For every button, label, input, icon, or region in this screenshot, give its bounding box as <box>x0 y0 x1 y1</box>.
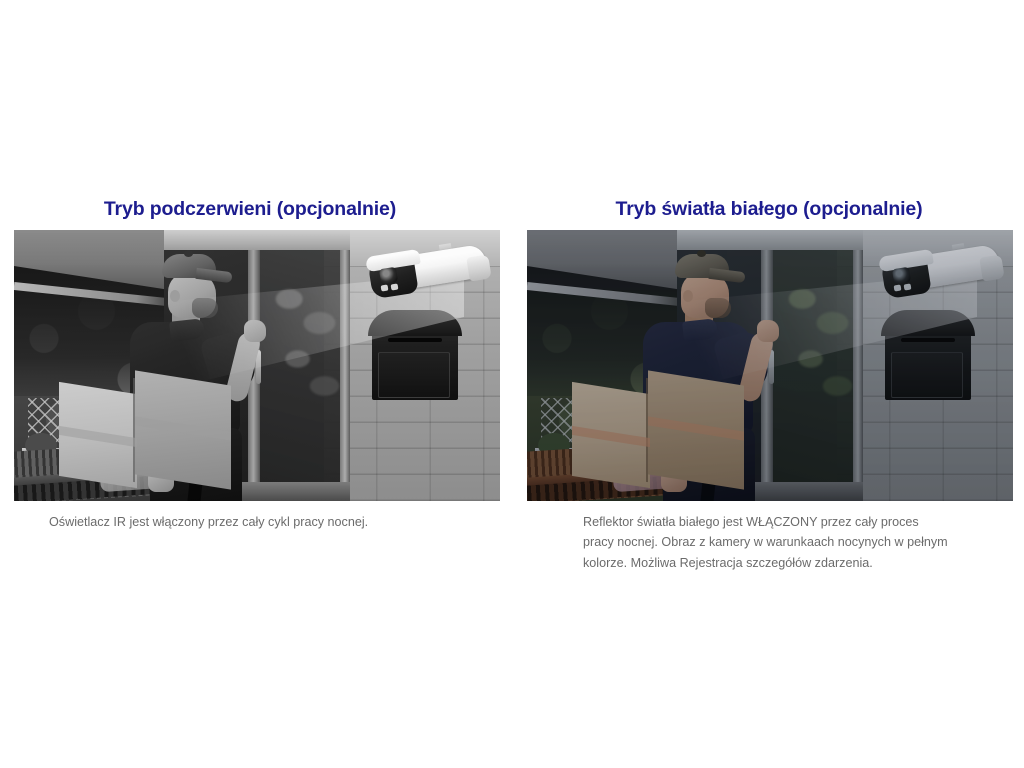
person-beard <box>192 298 218 318</box>
camera-rear-cap <box>466 254 491 281</box>
cardboard-box <box>572 380 750 488</box>
camera-led-right-icon <box>391 283 399 290</box>
camera-rear-cap <box>979 254 1004 281</box>
box-corner-edge <box>646 378 648 482</box>
mailbox-panel <box>891 352 963 398</box>
mailbox-slot <box>388 338 442 342</box>
door-header <box>164 230 350 250</box>
caption-white-light: Reflektor światła białego jest WŁĄCZONY … <box>583 512 953 573</box>
camera-lens-icon <box>379 267 398 284</box>
person-cap-button <box>184 250 193 257</box>
caption-infrared: Oświetlacz IR jest włączony przez cały c… <box>49 512 469 532</box>
slide-root: Tryb podczerwieni (opcjonalnie) <box>0 0 1024 768</box>
photo-white-light-mode <box>527 230 1013 501</box>
camera-led-left-icon <box>894 284 902 291</box>
camera-lens-icon <box>892 267 911 284</box>
person-knocking-fist <box>757 320 779 342</box>
camera-led-left-icon <box>381 284 389 291</box>
panel-title-infrared: Tryb podczerwieni (opcjonalnie) <box>0 198 506 221</box>
person-beard <box>705 298 731 318</box>
person-ear <box>683 290 693 302</box>
person-knocking-fist <box>244 320 266 342</box>
person-ear <box>170 290 180 302</box>
panel-infrared-mode: Tryb podczerwieni (opcjonalnie) <box>0 0 512 768</box>
cardboard-box <box>59 380 237 488</box>
door-header <box>677 230 863 250</box>
photo-infrared-mode <box>14 230 500 501</box>
mailbox-slot <box>901 338 955 342</box>
box-corner-edge <box>133 378 135 482</box>
security-camera <box>344 244 494 322</box>
scene-white-light <box>527 230 1013 501</box>
security-camera <box>857 244 1007 322</box>
camera-led-right-icon <box>904 283 912 290</box>
person-cap-button <box>697 250 706 257</box>
panel-white-light-mode: Tryb światła białego (opcjonalnie) <box>512 0 1024 768</box>
panel-title-white-light: Tryb światła białego (opcjonalnie) <box>513 198 1024 221</box>
scene-infrared <box>14 230 500 501</box>
mailbox-panel <box>378 352 450 398</box>
